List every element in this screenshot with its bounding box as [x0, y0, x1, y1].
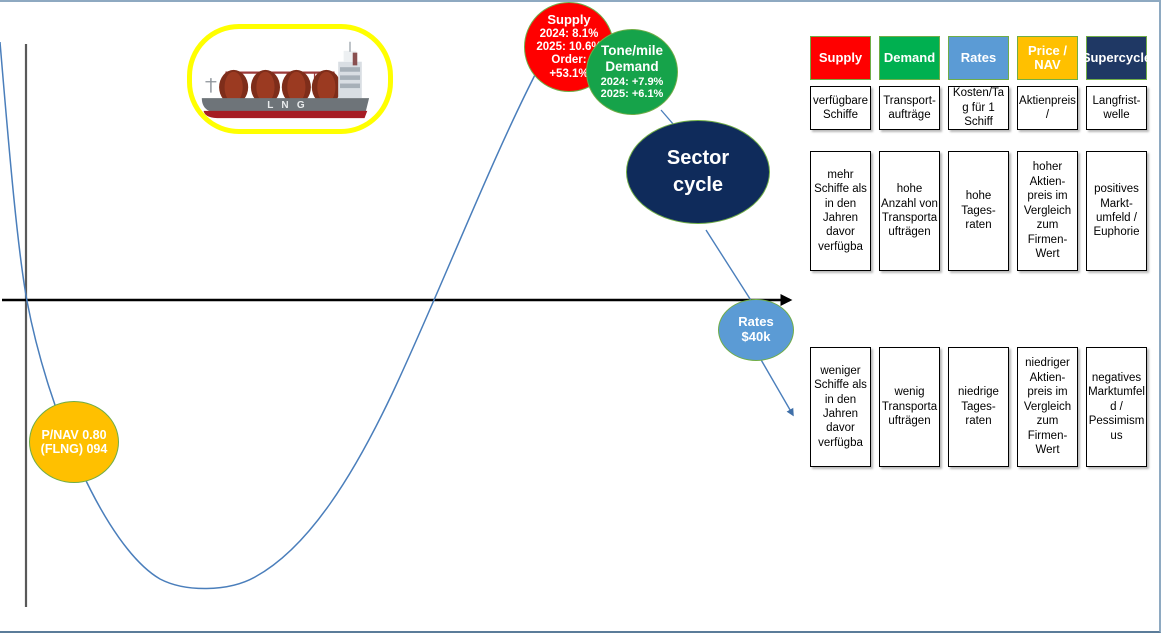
- bubble-demand-title-line2: Demand: [605, 59, 658, 75]
- positive-supercycle: positives Markt-umfeld / Euphorie: [1086, 151, 1147, 271]
- positive-price-nav: hoher Aktien-preis im Vergleich zum Firm…: [1017, 151, 1078, 271]
- connector-sector-to-rates: [706, 230, 752, 302]
- matrix-definition-row: verfügbare Schiffe Transport-aufträge Ko…: [810, 83, 1155, 127]
- cycle-indicator-matrix: Supply Demand Rates Price / NAV Supercyc…: [810, 36, 1155, 467]
- header-demand: Demand: [879, 36, 940, 80]
- bubble-rates-line1: Rates: [738, 315, 773, 330]
- lng-carrier-ship-icon: L N G: [192, 29, 388, 129]
- header-rates: Rates: [948, 36, 1009, 80]
- bubble-supply-line4: +53.1%: [549, 68, 588, 81]
- negative-supercycle: negatives Marktumfeld / Pessimismus: [1086, 347, 1147, 467]
- slide-canvas: L N G Supply 2024: 8.1% 2025: 10.6% Orde…: [0, 2, 1161, 635]
- definition-supercycle: Langfrist-welle: [1086, 86, 1147, 130]
- bubble-pnav-line2: (FLNG) 094: [41, 442, 108, 456]
- bubble-sector-line2: cycle: [673, 172, 723, 199]
- definition-rates: Kosten/Tag für 1 Schiff: [948, 86, 1009, 130]
- matrix-header-row: Supply Demand Rates Price / NAV Supercyc…: [810, 36, 1155, 80]
- positive-demand: hohe Anzahl von Transportaufträgen: [879, 151, 940, 271]
- bubble-supply-title: Supply: [547, 13, 590, 28]
- matrix-col-demand: Demand: [879, 36, 940, 80]
- bubble-demand-line2: 2025: +6.1%: [601, 88, 664, 101]
- matrix-negative-row: weniger Schiffe als in den Jahren davor …: [810, 347, 1155, 467]
- matrix-col-supply: Supply: [810, 36, 871, 80]
- bubble-demand-line1: 2024: +7.9%: [601, 76, 664, 89]
- bubble-sector-cycle: Sector cycle: [626, 120, 770, 224]
- bubble-tone-mile-demand: Tone/mile Demand 2024: +7.9% 2025: +6.1%: [586, 29, 678, 115]
- negative-demand: wenig Transportaufträgen: [879, 347, 940, 467]
- lng-ship-picture: L N G: [187, 24, 393, 134]
- positive-supply: mehr Schiffe als in den Jahren davor ver…: [810, 151, 871, 271]
- bubble-pnav: P/NAV 0.80 (FLNG) 094: [29, 401, 119, 483]
- definition-demand: Transport-aufträge: [879, 86, 940, 130]
- bubble-supply-line3: Order:: [551, 54, 586, 67]
- positive-rates: hohe Tages-raten: [948, 151, 1009, 271]
- svg-text:L N G: L N G: [267, 100, 307, 111]
- negative-supply: weniger Schiffe als in den Jahren davor …: [810, 347, 871, 467]
- negative-price-nav: niedriger Aktien-preis im Vergleich zum …: [1017, 347, 1078, 467]
- definition-price-nav: Aktienpreis /: [1017, 86, 1078, 130]
- definition-supply: verfügbare Schiffe: [810, 86, 871, 130]
- bubble-pnav-line1: P/NAV 0.80: [41, 428, 106, 442]
- bubble-rates: Rates $40k: [718, 299, 794, 361]
- matrix-col-supercycle: Supercycle: [1086, 36, 1147, 80]
- negative-rates: niedrige Tages-raten: [948, 347, 1009, 467]
- matrix-positive-row: mehr Schiffe als in den Jahren davor ver…: [810, 151, 1155, 271]
- bubble-supply-line1: 2024: 8.1%: [540, 28, 599, 41]
- bubble-sector-line1: Sector: [667, 145, 729, 172]
- matrix-col-rates: Rates: [948, 36, 1009, 80]
- matrix-col-price-nav: Price / NAV: [1017, 36, 1078, 80]
- bubble-demand-title-line1: Tone/mile: [601, 43, 663, 59]
- header-supply: Supply: [810, 36, 871, 80]
- header-supercycle: Supercycle: [1086, 36, 1147, 80]
- header-price-nav: Price / NAV: [1017, 36, 1078, 80]
- connector-rates-to-negative: [760, 358, 793, 415]
- bubble-rates-line2: $40k: [742, 330, 771, 345]
